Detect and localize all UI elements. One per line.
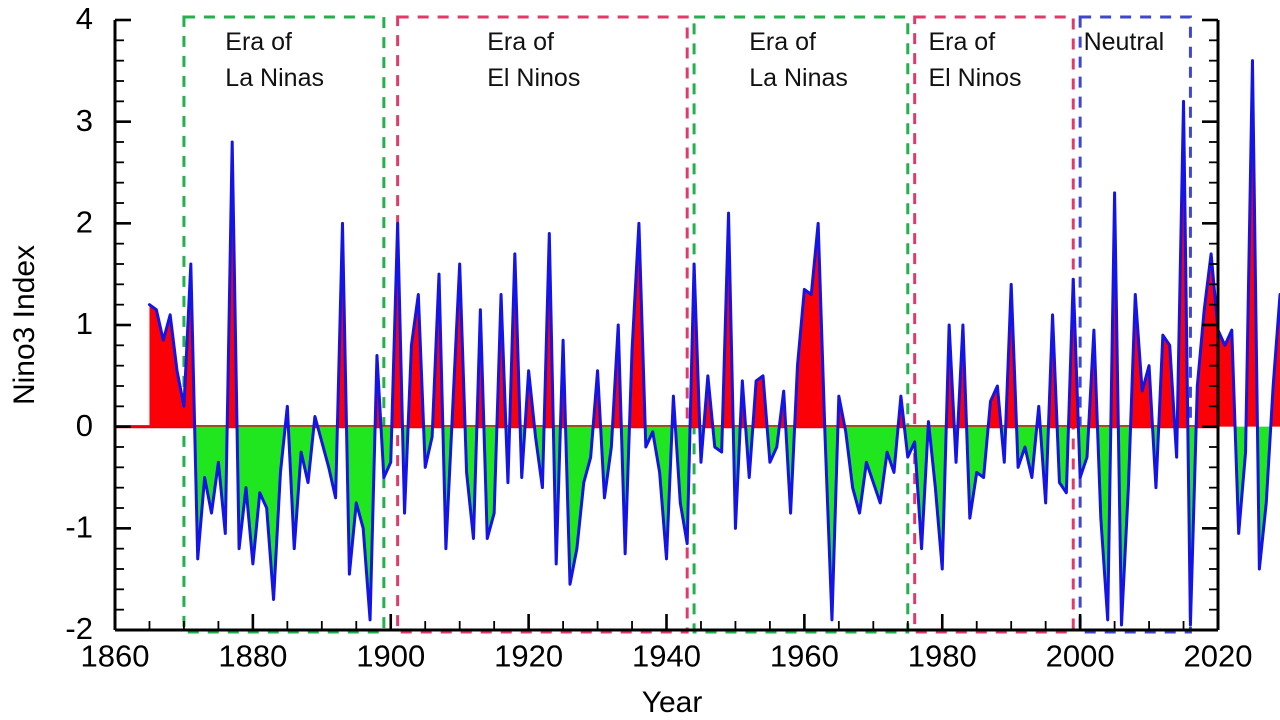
x-tick-label: 1880 [218,638,287,673]
y-axis-title: Nino3 Index [8,245,41,405]
y-tick-label: 0 [76,408,93,443]
y-tick-label: -1 [65,510,93,545]
era-la-ninas-1-label-line1: Era of [225,28,292,56]
neutral-label-line1: Neutral [1084,28,1165,56]
era-el-ninos-2-label-line1: Era of [928,28,995,56]
y-tick-label: 3 [76,103,93,138]
y-tick-label: 4 [76,1,93,36]
x-tick-label: 1940 [632,638,701,673]
chart-figure: Era ofLa NinasEra ofEl NinosEra ofLa Nin… [0,0,1280,720]
era-el-ninos-1-label-line2: El Ninos [487,64,580,92]
x-tick-label: 1980 [908,638,977,673]
era-el-ninos-1-label-line1: Era of [487,28,554,56]
y-tick-label: 2 [76,205,93,240]
era-la-ninas-1-label-line2: La Ninas [225,64,324,92]
x-tick-label: 1960 [770,638,839,673]
era-la-ninas-2-label-line2: La Ninas [749,64,848,92]
x-tick-label: 1900 [356,638,425,673]
x-tick-label: 1920 [494,638,563,673]
x-tick-label: 2000 [1046,638,1115,673]
x-tick-label: 2020 [1184,638,1253,673]
x-axis-title: Year [642,686,703,719]
era-el-ninos-2-label-line2: El Ninos [928,64,1021,92]
era-la-ninas-2-label-line1: Era of [749,28,816,56]
x-tick-label: 1860 [81,638,150,673]
y-tick-label: 1 [76,306,93,341]
nino3-index-chart: Era ofLa NinasEra ofEl NinosEra ofLa Nin… [0,0,1280,720]
